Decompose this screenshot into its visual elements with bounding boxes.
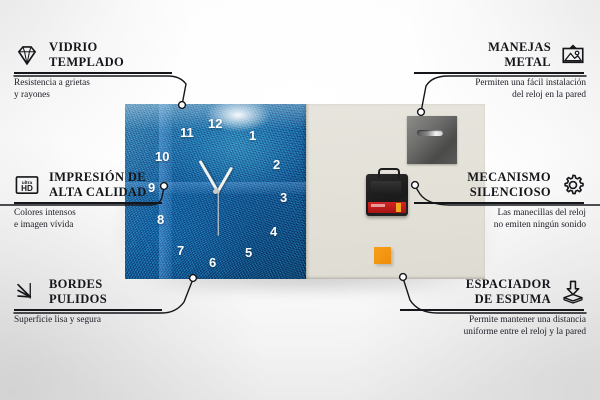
feature-title-line1: BORDES [49,277,107,292]
battery [368,202,406,213]
clock-numeral-3: 3 [280,191,287,204]
clock-numeral-12: 12 [208,117,222,130]
diamond-icon [14,42,40,68]
mechanism-hook-tab [378,168,400,178]
feature-espaciador-espuma[interactable]: ESPACIADOR DE ESPUMA Permite mantener un… [400,277,586,338]
orange-foam-spacer [374,247,391,264]
feature-desc-line1: Las manecillas del reloj [414,207,586,219]
feature-desc-line2: del reloj en la pared [414,89,586,101]
feature-title: MANEJAS METAL [488,40,551,69]
feature-description: Superficie lisa y segura [14,314,164,326]
battery-label-stripe [371,204,385,207]
clock-numeral-2: 2 [273,158,280,171]
gear-icon [560,172,586,198]
feature-title-line1: MECANISMO [467,170,551,185]
feature-header: VIDRIO TEMPLADO [14,40,174,69]
clock-numeral-11: 11 [180,126,194,139]
feature-title-line1: VIDRIO [49,40,124,55]
clock-numeral-10: 10 [155,150,169,163]
feature-desc-line2: y rayones [14,89,174,101]
feature-description: Resistencia a grietas y rayones [14,77,174,102]
clock-numeral-7: 7 [177,244,184,257]
clock-numeral-5: 5 [245,246,252,259]
feature-title-line2: METAL [488,55,551,70]
feature-title-line2: DE ESPUMA [466,292,551,307]
feature-desc-line2: uniforme entre el reloj y la pared [400,326,586,338]
feature-desc-line1: Superficie lisa y segura [14,314,164,326]
polished-edges-icon [14,279,40,305]
clock-numeral-1: 1 [249,129,256,142]
feature-divider [400,309,584,310]
feature-desc-line1: Permiten una fácil instalación [414,77,586,89]
feature-title: IMPRESIÓN DE ALTA CALIDAD [49,170,147,199]
feature-desc-line2: no emiten ningún sonido [414,219,586,231]
feature-title-line1: MANEJAS [488,40,551,55]
feature-vidrio-templado[interactable]: VIDRIO TEMPLADO Resistencia a grietas y … [14,40,174,101]
feature-title: VIDRIO TEMPLADO [49,40,124,69]
hanging-picture-frame-icon [560,42,586,68]
feature-desc-line1: Colores intensos [14,207,164,219]
feature-desc-line2: e imagen vívida [14,219,164,231]
feature-divider [414,72,584,73]
feature-manejas-metal[interactable]: MANEJAS METAL Permiten una fácil instala… [414,40,586,101]
infographic-canvas: 12 1 2 3 4 5 6 7 8 9 10 11 [0,0,600,400]
clock-numeral-4: 4 [270,225,277,238]
clock-mechanism-module [366,174,408,216]
clock-center-cap [213,189,218,194]
feature-title-line1: IMPRESIÓN DE [49,170,147,185]
feature-title: ESPACIADOR DE ESPUMA [466,277,551,306]
clock-numeral-6: 6 [209,256,216,269]
feature-title: BORDES PULIDOS [49,277,107,306]
feature-description: Permite mantener una distancia uniforme … [400,314,586,339]
feature-title-line1: ESPACIADOR [466,277,551,292]
feature-title-line2: SILENCIOSO [467,185,551,200]
feature-header: ultra HD IMPRESIÓN DE ALTA CALIDAD [14,170,164,199]
feature-divider [414,202,584,203]
feature-mecanismo-silencioso[interactable]: MECANISMO SILENCIOSO Las manecillas del … [414,170,586,231]
feature-header: BORDES PULIDOS [14,277,164,306]
battery-terminal [396,203,401,212]
feature-bordes-pulidos[interactable]: BORDES PULIDOS Superficie lisa y segura [14,277,164,326]
svg-text:HD: HD [21,184,33,193]
feature-description: Permiten una fácil instalación del reloj… [414,77,586,102]
feature-impresion-alta-calidad[interactable]: ultra HD IMPRESIÓN DE ALTA CALIDAD Color… [14,170,164,231]
mechanism-body-plate [371,181,401,195]
foam-spacer-arrow-icon [560,279,586,305]
feature-description: Colores intensos e imagen vívida [14,207,164,232]
feature-divider [14,72,172,73]
feature-description: Las manecillas del reloj no emiten ningú… [414,207,586,232]
metal-hanger-bracket [407,116,457,164]
ultra-hd-icon: ultra HD [14,172,40,198]
feature-divider [14,309,162,310]
feature-title-line2: ALTA CALIDAD [49,185,147,200]
feature-divider [14,202,162,203]
feature-title: MECANISMO SILENCIOSO [467,170,551,199]
feature-header: MECANISMO SILENCIOSO [414,170,586,199]
feature-header: MANEJAS METAL [414,40,586,69]
feature-desc-line1: Permite mantener una distancia [400,314,586,326]
feature-title-line2: TEMPLADO [49,55,124,70]
feature-title-line2: PULIDOS [49,292,107,307]
feature-header: ESPACIADOR DE ESPUMA [400,277,586,306]
hanger-slot [417,130,443,136]
feature-desc-line1: Resistencia a grietas [14,77,174,89]
clock-second-hand [217,190,218,236]
